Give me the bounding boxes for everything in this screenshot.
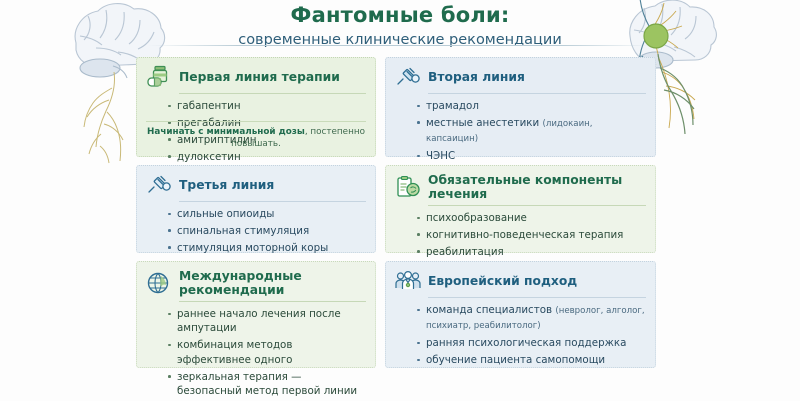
card-title: Вторая линия [428, 70, 525, 84]
list-item: психообразование [417, 211, 646, 228]
header-divider [148, 45, 652, 46]
card-second-line[interactable]: Вторая линия трамадол местные анестетики… [385, 57, 656, 157]
list-item: комбинация методов эффективнее одного [168, 338, 366, 369]
list-item: спинальная стимуляция [168, 224, 366, 241]
list-item: местные анестетики (лидокаин, капсаицин) [417, 116, 646, 149]
card-european-approach[interactable]: Европейский подход команда специалистов … [385, 261, 656, 368]
title-divider [428, 93, 646, 94]
title-divider [179, 93, 366, 94]
list-item: ранняя психологическая поддержка [417, 336, 646, 353]
page-title: Фантомные боли: [0, 2, 800, 28]
card-header: Международные рекомендации [146, 269, 366, 297]
list-item: трамадол [417, 99, 646, 116]
cards-row-1: Первая линия терапии габапентин прегабал… [136, 57, 656, 157]
cards-grid: Первая линия терапии габапентин прегабал… [136, 57, 656, 376]
list-item: сильные опиоиды [168, 207, 366, 224]
bullet-list: раннее начало лечения после ампутации ко… [146, 307, 366, 401]
card-title: Международные рекомендации [179, 269, 366, 297]
card-first-line-therapy[interactable]: Первая линия терапии габапентин прегабал… [136, 57, 376, 157]
cards-row-2: Третья линия сильные опиоиды спинальная … [136, 165, 656, 253]
title-divider [428, 205, 646, 206]
card-title: Первая линия терапии [179, 70, 340, 84]
care-team-icon [395, 269, 421, 293]
list-item: раннее начало лечения после ампутации [168, 307, 366, 338]
globe-icon [146, 271, 172, 295]
list-item: габапентин [168, 99, 366, 116]
list-item: обучение пациента самопомощи [417, 353, 646, 370]
bullet-list: команда специалистов (невролог, алголог,… [395, 303, 646, 370]
header: Фантомные боли: современные клинические … [0, 2, 800, 50]
card-footnote: Начинать с минимальной дозы, постепенно … [146, 121, 366, 150]
card-title: Обязательные компоненты лечения [428, 173, 646, 201]
title-divider [179, 301, 366, 302]
card-header: Вторая линия [395, 65, 646, 89]
list-item: команда специалистов (невролог, алголог,… [417, 303, 646, 336]
clipboard-brain-icon [395, 175, 421, 199]
card-header: Первая линия терапии [146, 65, 366, 89]
card-third-line[interactable]: Третья линия сильные опиоиды спинальная … [136, 165, 376, 253]
page-subtitle: современные клинические рекомендации [0, 30, 800, 50]
list-item: стимуляция моторной коры [168, 241, 366, 258]
card-international-recommendations[interactable]: Международные рекомендации раннее начало… [136, 261, 376, 368]
card-title: Третья линия [179, 178, 274, 192]
list-item-text: команда специалистов [426, 304, 555, 316]
syringe-icon [395, 65, 421, 89]
card-title: Европейский подход [428, 274, 577, 288]
infographic-canvas: Фантомные боли: современные клинические … [0, 0, 800, 400]
list-item: когнитивно-поведенческая терапия [417, 228, 646, 245]
footnote-emphasis: Начинать с минимальной дозы [147, 127, 305, 137]
card-header: Обязательные компоненты лечения [395, 173, 646, 201]
card-header: Европейский подход [395, 269, 646, 293]
list-item: реабилитация [417, 245, 646, 262]
cards-row-3: Международные рекомендации раннее начало… [136, 261, 656, 368]
title-divider [179, 201, 366, 202]
card-header: Третья линия [146, 173, 366, 197]
title-divider [428, 297, 646, 298]
card-mandatory-components[interactable]: Обязательные компоненты лечения психообр… [385, 165, 656, 253]
syringe-icon [146, 173, 172, 197]
list-item-text: местные анестетики [426, 117, 542, 129]
bullet-list: сильные опиоиды спинальная стимуляция ст… [146, 207, 366, 258]
pill-bottle-icon [146, 65, 172, 89]
list-item: ЧЭНС [417, 149, 646, 166]
list-item: зеркальная терапия — безопасный метод пе… [168, 370, 366, 401]
